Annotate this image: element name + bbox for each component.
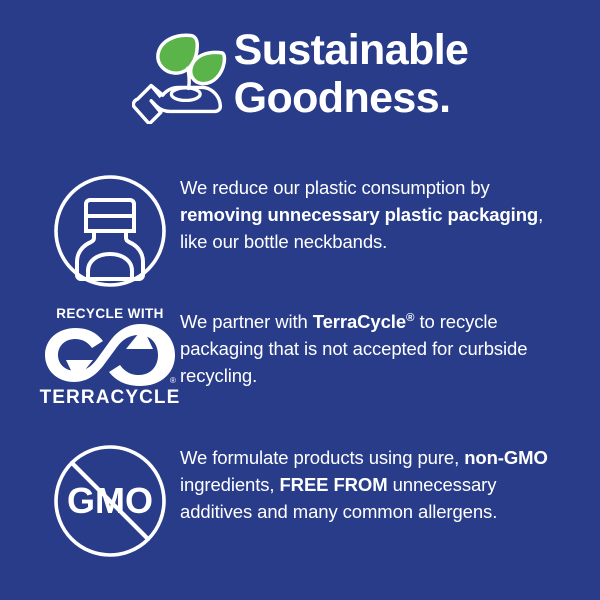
feature-text-terracycle: We partner with TerraCycle® to recycle p… xyxy=(180,306,570,389)
terracycle-logo: RECYCLE WITH ® TERRACYCL xyxy=(40,306,180,409)
feature-text-plastic-reduction: We reduce our plastic consumption by rem… xyxy=(180,172,570,255)
feature-row-terracycle: RECYCLE WITH ® TERRACYCL xyxy=(40,306,570,409)
terracycle-bottom-label: TERRACYCLE xyxy=(40,387,181,409)
poster-header: Sustainable Goodness. xyxy=(0,24,600,124)
hand-holding-sprout-icon xyxy=(132,24,228,124)
bottle-neckband-icon xyxy=(40,172,180,290)
page-title: Sustainable Goodness. xyxy=(234,26,469,122)
sustainable-goodness-poster: Sustainable Goodness. We reduce our plas… xyxy=(0,0,600,600)
registered-mark: ® xyxy=(170,376,176,385)
infinity-recycle-arrows-icon: ® xyxy=(43,324,177,386)
feature-row-non-gmo: GMO We formulate products using pure, no… xyxy=(40,442,570,560)
terracycle-badge: RECYCLE WITH ® TERRACYCL xyxy=(40,306,180,409)
feature-row-plastic-reduction: We reduce our plastic consumption by rem… xyxy=(40,172,570,290)
terracycle-top-label: RECYCLE WITH xyxy=(56,306,164,321)
gmo-label: GMO xyxy=(67,480,153,521)
feature-text-non-gmo: We formulate products using pure, non-GM… xyxy=(180,442,570,525)
no-gmo-icon: GMO xyxy=(40,442,180,560)
